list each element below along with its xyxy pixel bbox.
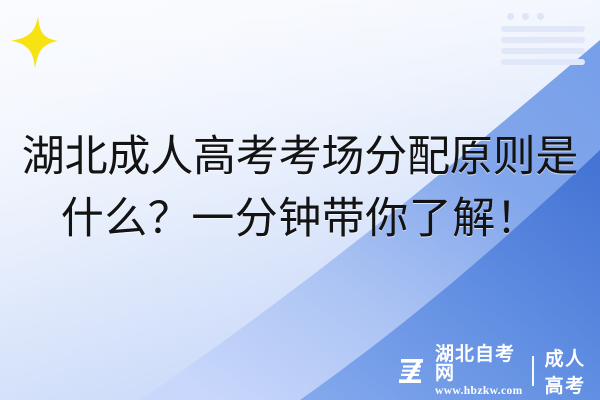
document-dots	[507, 13, 585, 20]
brand-text-block: 湖北自考网 www.hbzkw.com	[435, 345, 523, 398]
headline-line-2: 什么？一分钟带你了解！	[0, 188, 600, 250]
brand-name: 湖北自考网	[435, 345, 523, 383]
document-dot	[522, 13, 529, 20]
document-lines	[501, 26, 585, 65]
star-shape	[11, 16, 58, 68]
document-lines-decoration	[501, 9, 585, 57]
logo-mark-svg	[396, 355, 428, 387]
star-svg	[8, 14, 62, 70]
brand-url: www.hbzkw.com	[435, 386, 523, 398]
brand-divider	[532, 356, 534, 386]
sparkle-star-icon	[8, 14, 62, 70]
document-dot	[537, 13, 544, 20]
brand-tag: 成人高考	[545, 344, 600, 398]
document-line	[501, 48, 585, 54]
hbzkw-z-logo-mark-icon	[396, 355, 428, 387]
promo-banner: 湖北成人高考考场分配原则是 什么？一分钟带你了解！ 湖北自考网 www.hbzk…	[0, 0, 600, 400]
document-line	[501, 37, 585, 43]
headline-line-1: 湖北成人高考考场分配原则是	[0, 126, 600, 188]
document-dot	[507, 13, 514, 20]
document-line	[501, 59, 585, 65]
document-line	[501, 26, 585, 32]
brand-logo[interactable]: 湖北自考网 www.hbzkw.com 成人高考	[396, 351, 600, 391]
banner-headline: 湖北成人高考考场分配原则是 什么？一分钟带你了解！	[0, 126, 600, 250]
